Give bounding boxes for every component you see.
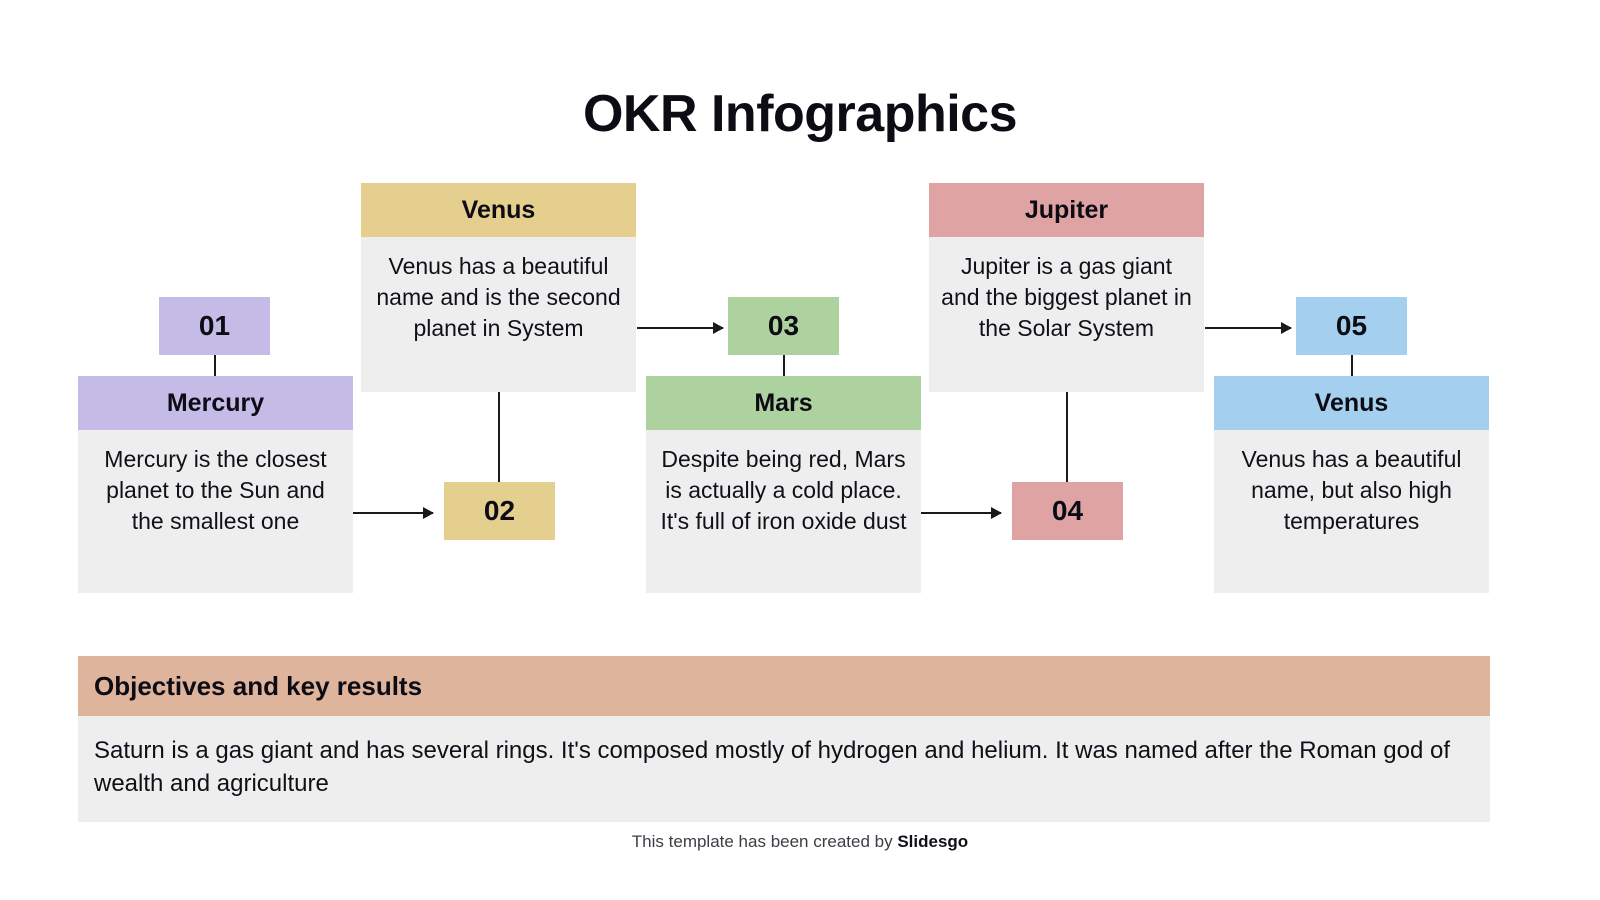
- step-card-venus-5-header: Venus: [1214, 376, 1489, 430]
- objectives-panel-body: Saturn is a gas giant and has several ri…: [78, 716, 1490, 822]
- step-badge-01[interactable]: 01: [159, 297, 270, 355]
- step-badge-04[interactable]: 04: [1012, 482, 1123, 540]
- step-card-jupiter-body: Jupiter is a gas giant and the biggest p…: [929, 237, 1204, 392]
- connector-line-02: [498, 392, 500, 482]
- step-card-mars-header: Mars: [646, 376, 921, 430]
- flow-arrow-02-to-03: [637, 327, 723, 329]
- step-card-venus-5[interactable]: Venus Venus has a beautiful name, but al…: [1214, 376, 1489, 593]
- connector-line-04: [1066, 392, 1068, 482]
- connector-line-01: [214, 355, 216, 376]
- step-card-venus-2-body: Venus has a beautiful name and is the se…: [361, 237, 636, 392]
- step-card-venus-2-header: Venus: [361, 183, 636, 237]
- step-card-jupiter-header: Jupiter: [929, 183, 1204, 237]
- step-badge-05[interactable]: 05: [1296, 297, 1407, 355]
- footer-credit-prefix: This template has been created by: [632, 832, 898, 851]
- footer-brand[interactable]: Slidesgo: [897, 832, 968, 851]
- slide: OKR Infographics 01 Mercury Mercury is t…: [0, 0, 1600, 900]
- flow-arrow-03-to-04: [921, 512, 1001, 514]
- flow-arrow-01-to-02: [353, 512, 433, 514]
- step-card-jupiter[interactable]: Jupiter Jupiter is a gas giant and the b…: [929, 183, 1204, 392]
- connector-line-03: [783, 355, 785, 376]
- connector-line-05: [1351, 355, 1353, 376]
- okr-flow-diagram: 01 Mercury Mercury is the closest planet…: [0, 0, 1600, 640]
- step-card-mars-body: Despite being red, Mars is actually a co…: [646, 430, 921, 593]
- step-card-mercury[interactable]: Mercury Mercury is the closest planet to…: [78, 376, 353, 593]
- step-badge-03[interactable]: 03: [728, 297, 839, 355]
- footer-credit: This template has been created by Slides…: [0, 832, 1600, 852]
- step-badge-02-label: 02: [484, 495, 515, 527]
- objectives-panel-header: Objectives and key results: [78, 656, 1490, 716]
- step-card-venus-2[interactable]: Venus Venus has a beautiful name and is …: [361, 183, 636, 392]
- step-badge-05-label: 05: [1336, 310, 1367, 342]
- step-badge-03-label: 03: [768, 310, 799, 342]
- step-card-mercury-body: Mercury is the closest planet to the Sun…: [78, 430, 353, 593]
- step-badge-01-label: 01: [199, 310, 230, 342]
- step-card-venus-5-body: Venus has a beautiful name, but also hig…: [1214, 430, 1489, 593]
- step-card-mercury-header: Mercury: [78, 376, 353, 430]
- step-badge-04-label: 04: [1052, 495, 1083, 527]
- step-card-mars[interactable]: Mars Despite being red, Mars is actually…: [646, 376, 921, 593]
- flow-arrow-04-to-05: [1205, 327, 1291, 329]
- step-badge-02[interactable]: 02: [444, 482, 555, 540]
- objectives-panel: Objectives and key results Saturn is a g…: [78, 656, 1490, 822]
